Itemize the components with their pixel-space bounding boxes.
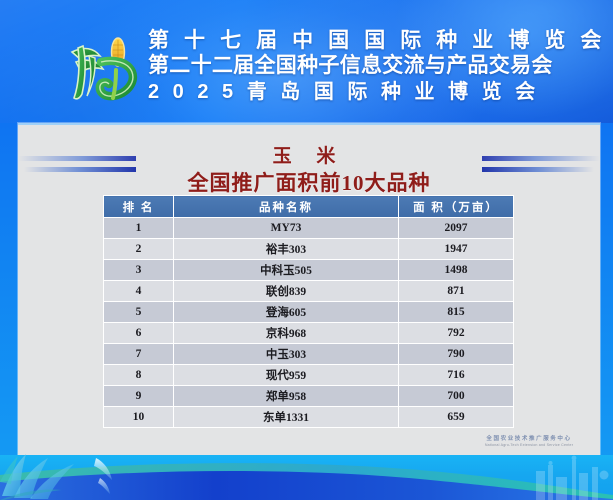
cell-area: 871 <box>399 281 514 302</box>
cell-rank: 10 <box>104 407 174 428</box>
cell-variety: 现代959 <box>174 365 399 386</box>
cell-variety: 中科玉505 <box>174 260 399 281</box>
event-title-line-3: 2 0 2 5 青 岛 国 际 种 业 博 览 会 <box>148 79 578 105</box>
event-title-line-1: 第 十 七 届 中 国 国 际 种 业 博 览 会 <box>148 28 578 53</box>
cell-area: 1498 <box>399 260 514 281</box>
footer-decor-band <box>0 455 613 500</box>
cell-area: 700 <box>399 386 514 407</box>
event-title-line-2: 第二十二届全国种子信息交流与产品交易会 <box>148 53 578 79</box>
table-row: 4 联创839 871 <box>104 281 514 302</box>
cell-rank: 3 <box>104 260 174 281</box>
cell-variety: 登海605 <box>174 302 399 323</box>
cell-rank: 1 <box>104 218 174 239</box>
organization-watermark: 全国农业技术推广服务中心 National Agro-Tech Extensio… <box>470 434 588 447</box>
cell-rank: 9 <box>104 386 174 407</box>
cell-rank: 6 <box>104 323 174 344</box>
cell-area: 815 <box>399 302 514 323</box>
table-row: 3 中科玉505 1498 <box>104 260 514 281</box>
table-row: 6 京科968 792 <box>104 323 514 344</box>
table-body: 1 MY73 2097 2 裕丰303 1947 3 中科玉505 1498 4… <box>104 218 514 428</box>
table-row: 7 中玉303 790 <box>104 344 514 365</box>
cell-area: 659 <box>399 407 514 428</box>
event-title-group: 第 十 七 届 中 国 国 际 种 业 博 览 会 第二十二届全国种子信息交流与… <box>148 28 578 105</box>
cell-variety: 京科968 <box>174 323 399 344</box>
table-row: 1 MY73 2097 <box>104 218 514 239</box>
cell-rank: 4 <box>104 281 174 302</box>
cell-rank: 5 <box>104 302 174 323</box>
cell-area: 1947 <box>399 239 514 260</box>
left-blue-strip <box>0 123 18 455</box>
top-varieties-table: 排 名 品种名称 面 积（万亩） 1 MY73 2097 2 裕丰303 194… <box>103 195 514 428</box>
cell-area: 2097 <box>399 218 514 239</box>
cell-variety: 东单1331 <box>174 407 399 428</box>
table-row: 9 郑单958 700 <box>104 386 514 407</box>
slide-canvas: 第 十 七 届 中 国 国 际 种 业 博 览 会 第二十二届全国种子信息交流与… <box>0 0 613 500</box>
column-header-variety: 品种名称 <box>174 196 399 218</box>
event-header-banner: 第 十 七 届 中 国 国 际 种 业 博 览 会 第二十二届全国种子信息交流与… <box>0 0 613 123</box>
cell-variety: 联创839 <box>174 281 399 302</box>
content-card: 玉 米 全国推广面积前10大品种 排 名 品种名称 面 积（万亩） 1 MY73… <box>18 123 600 455</box>
cell-area: 792 <box>399 323 514 344</box>
cell-variety: 裕丰303 <box>174 239 399 260</box>
cell-rank: 7 <box>104 344 174 365</box>
table-row: 5 登海605 815 <box>104 302 514 323</box>
column-header-rank: 排 名 <box>104 196 174 218</box>
table-title: 全国推广面积前10大品种 <box>18 167 600 197</box>
cell-variety: 中玉303 <box>174 344 399 365</box>
table-header-row: 排 名 品种名称 面 积（万亩） <box>104 196 514 218</box>
cell-rank: 2 <box>104 239 174 260</box>
right-blue-strip <box>600 123 613 455</box>
table-row: 10 东单1331 659 <box>104 407 514 428</box>
cell-variety: 郑单958 <box>174 386 399 407</box>
table-row: 8 现代959 716 <box>104 365 514 386</box>
crop-title: 玉 米 <box>18 141 600 168</box>
table-row: 2 裕丰303 1947 <box>104 239 514 260</box>
cell-variety: MY73 <box>174 218 399 239</box>
cell-area: 790 <box>399 344 514 365</box>
watermark-chinese: 全国农业技术推广服务中心 <box>470 434 588 442</box>
cell-rank: 8 <box>104 365 174 386</box>
seed-expo-logo-icon <box>58 26 146 114</box>
watermark-english: National Agro-Tech Extension and Service… <box>470 443 588 447</box>
cell-area: 716 <box>399 365 514 386</box>
column-header-area: 面 积（万亩） <box>399 196 514 218</box>
